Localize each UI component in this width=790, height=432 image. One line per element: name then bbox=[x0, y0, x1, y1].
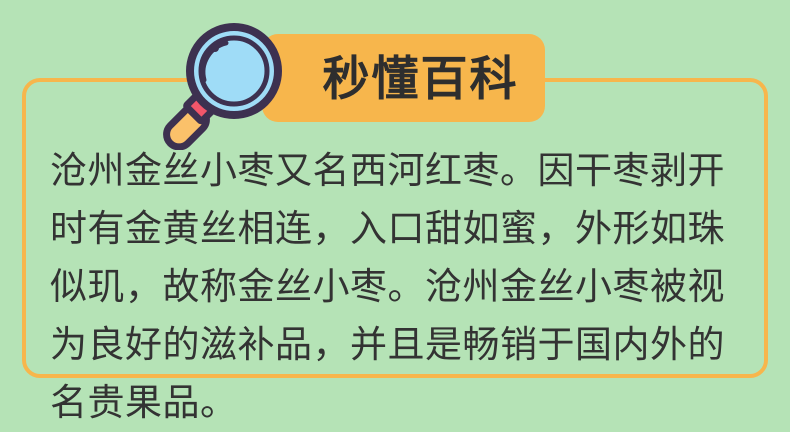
body-paragraph: 沧州金丝小枣又名西河红枣。因干枣剥开时有金黄丝相连，入口甜如蜜，外形如珠似玑，故… bbox=[50, 142, 750, 432]
magnifying-glass-icon bbox=[160, 18, 292, 150]
title-badge: 秒懂百科 bbox=[262, 34, 545, 122]
page-title: 秒懂百科 bbox=[262, 34, 545, 122]
card-header: 秒懂百科 bbox=[0, 0, 790, 140]
encyclopedia-card: 秒懂百科 沧州金丝小枣又名西河红枣。因干枣剥开时有金黄丝相连，入口甜如蜜，外形 bbox=[0, 0, 790, 432]
